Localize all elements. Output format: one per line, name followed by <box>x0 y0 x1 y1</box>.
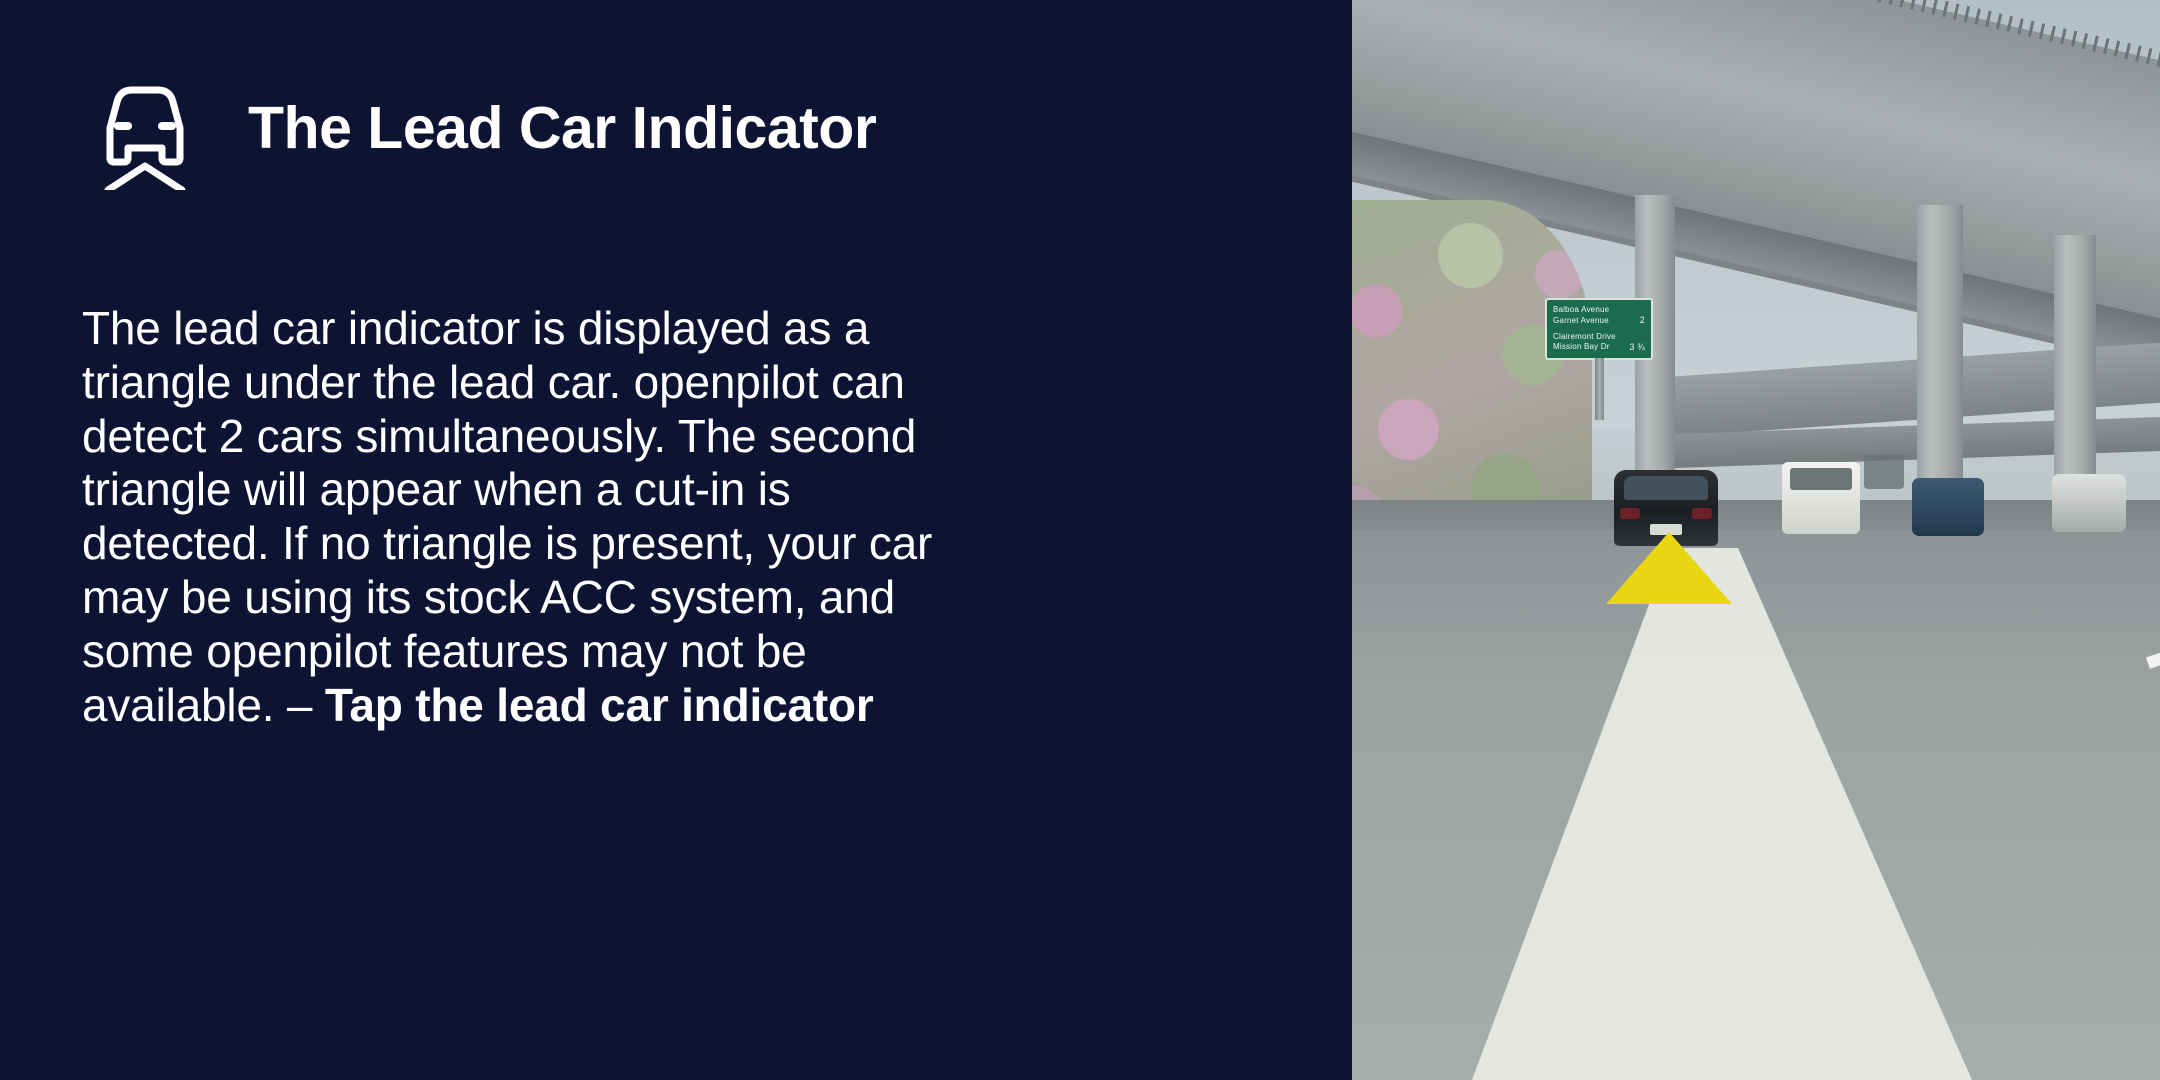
panel-header: The Lead Car Indicator <box>86 72 876 190</box>
sign-distance-2: 3 ¾ <box>1625 341 1645 353</box>
body-text-bold: Tap the lead car indicator <box>325 679 874 731</box>
lead-vehicle-taillight <box>1692 508 1712 519</box>
lead-vehicle-taillight <box>1620 508 1640 519</box>
highway-exit-sign: Balboa Avenue Garnet Avenue 2 Clairemont… <box>1545 298 1653 360</box>
info-panel: The Lead Car Indicator The lead car indi… <box>0 0 1352 1080</box>
sign-line-4: Mission Bay Dr <box>1553 342 1616 353</box>
highway-dashcam-photo: Balboa Avenue Garnet Avenue 2 Clairemont… <box>1352 0 2160 1080</box>
sign-distance-1: 2 <box>1636 314 1645 326</box>
adjacent-vehicle-white <box>1782 462 1860 534</box>
vehicle-window <box>1790 468 1852 490</box>
sign-line-3: Clairemont Drive <box>1553 332 1616 343</box>
lead-vehicle-window <box>1624 476 1708 500</box>
road-surface <box>1352 530 2160 1080</box>
body-text-regular: The lead car indicator is displayed as a… <box>82 302 932 731</box>
lead-car-indicator-triangle[interactable] <box>1604 528 1734 608</box>
adjacent-vehicle-silver <box>2052 474 2126 532</box>
page-title: The Lead Car Indicator <box>248 99 876 164</box>
adjacent-vehicle-blue <box>1912 478 1984 536</box>
sign-line-2: Garnet Avenue <box>1553 316 1609 327</box>
sign-support-post <box>1595 358 1604 420</box>
distant-vehicle <box>1864 455 1904 489</box>
lead-car-triangle-icon <box>86 72 204 190</box>
panel-body-text: The lead car indicator is displayed as a… <box>82 302 942 733</box>
sign-line-1: Balboa Avenue <box>1553 305 1609 316</box>
